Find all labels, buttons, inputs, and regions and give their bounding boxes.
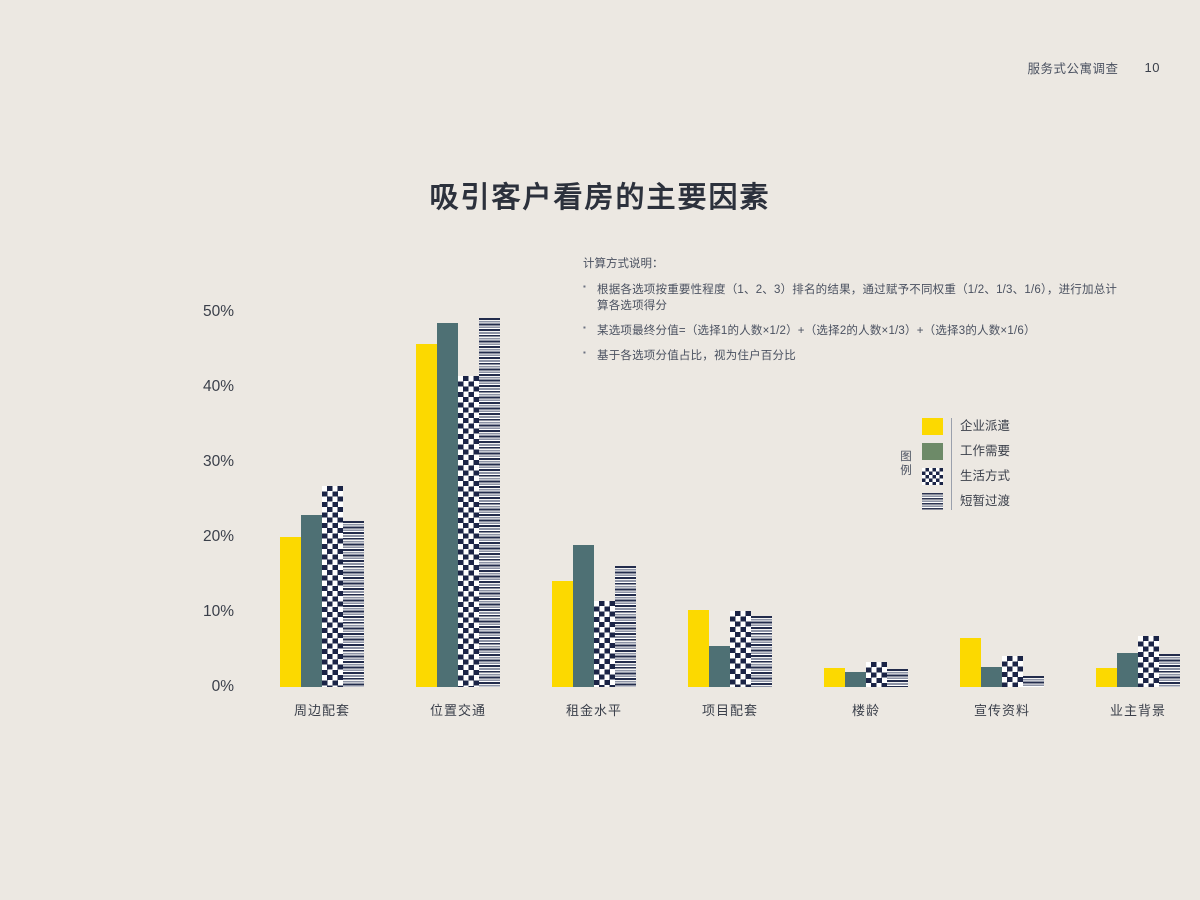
bar-短暂过渡[interactable] xyxy=(343,521,364,688)
y-axis-tick-label: 0% xyxy=(212,678,234,696)
bar-企业派遣[interactable] xyxy=(1096,668,1117,688)
bar-短暂过渡[interactable] xyxy=(1023,676,1044,687)
bar-chart: 0%10%20%30%40%50% 周边配套位置交通租金水平项目配套楼龄宣传资料… xyxy=(120,312,1130,712)
x-axis-tick-label: 位置交通 xyxy=(430,700,486,719)
bar-工作需要[interactable] xyxy=(573,545,594,688)
bars-area xyxy=(238,312,1130,687)
x-axis-tick-label: 楼龄 xyxy=(852,700,880,719)
bar-group xyxy=(1096,312,1180,687)
bar-生活方式[interactable] xyxy=(322,486,343,687)
bar-企业派遣[interactable] xyxy=(824,668,845,688)
bar-生活方式[interactable] xyxy=(730,611,751,687)
y-axis-tick-label: 30% xyxy=(203,453,234,471)
bar-企业派遣[interactable] xyxy=(416,344,437,688)
x-axis-tick-label: 项目配套 xyxy=(702,700,758,719)
bar-工作需要[interactable] xyxy=(437,323,458,688)
bar-企业派遣[interactable] xyxy=(960,638,981,687)
page-number: 10 xyxy=(1145,60,1160,75)
x-axis-tick-label: 业主背景 xyxy=(1110,700,1166,719)
bar-短暂过渡[interactable] xyxy=(887,669,908,687)
bar-group xyxy=(416,312,500,687)
bar-生活方式[interactable] xyxy=(458,376,479,687)
bar-工作需要[interactable] xyxy=(845,672,866,687)
note-bullet: 根据各选项按重要性程度（1、2、3）排名的结果，通过赋予不同权重（1/2、1/3… xyxy=(583,282,1123,315)
bar-生活方式[interactable] xyxy=(594,601,615,687)
y-axis: 0%10%20%30%40%50% xyxy=(180,312,238,687)
x-axis: 周边配套位置交通租金水平项目配套楼龄宣传资料业主背景 xyxy=(238,700,1130,730)
note-heading: 计算方式说明： xyxy=(583,256,1123,273)
bar-group xyxy=(280,312,364,687)
bar-工作需要[interactable] xyxy=(1117,653,1138,687)
bar-企业派遣[interactable] xyxy=(552,581,573,688)
bar-企业派遣[interactable] xyxy=(280,537,301,687)
bar-group xyxy=(824,312,908,687)
bar-工作需要[interactable] xyxy=(709,646,730,687)
bar-短暂过渡[interactable] xyxy=(479,318,500,687)
y-axis-tick-label: 20% xyxy=(203,528,234,546)
deck-title: 服务式公寓调查 xyxy=(1028,58,1119,77)
x-axis-tick-label: 宣传资料 xyxy=(974,700,1030,719)
y-axis-tick-label: 10% xyxy=(203,603,234,621)
plot-area: 0%10%20%30%40%50% 周边配套位置交通租金水平项目配套楼龄宣传资料… xyxy=(180,312,1130,687)
bar-短暂过渡[interactable] xyxy=(615,566,636,687)
bar-生活方式[interactable] xyxy=(1138,636,1159,687)
x-axis-tick-label: 周边配套 xyxy=(294,700,350,719)
bar-生活方式[interactable] xyxy=(1002,656,1023,688)
bar-短暂过渡[interactable] xyxy=(1159,654,1180,687)
bar-短暂过渡[interactable] xyxy=(751,616,772,687)
bar-企业派遣[interactable] xyxy=(688,610,709,687)
bar-工作需要[interactable] xyxy=(301,515,322,688)
slide-header: 服务式公寓调查 10 xyxy=(1028,58,1160,77)
y-axis-tick-label: 40% xyxy=(203,378,234,396)
page-title: 吸引客户看房的主要因素 xyxy=(0,174,1200,216)
bar-group xyxy=(688,312,772,687)
bar-group xyxy=(552,312,636,687)
bar-工作需要[interactable] xyxy=(981,667,1002,687)
x-axis-tick-label: 租金水平 xyxy=(566,700,622,719)
bar-生活方式[interactable] xyxy=(866,662,887,688)
y-axis-tick-label: 50% xyxy=(203,303,234,321)
bar-group xyxy=(960,312,1044,687)
